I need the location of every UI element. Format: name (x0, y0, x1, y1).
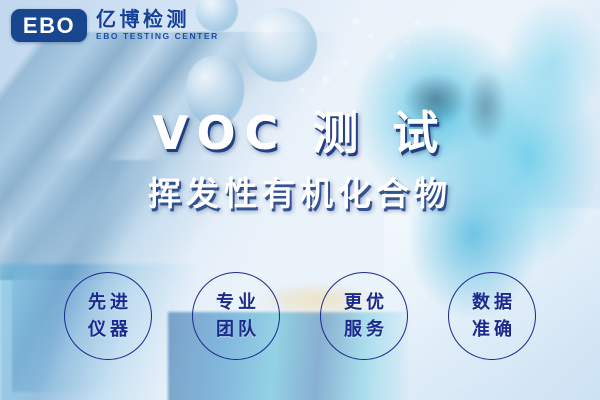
feature-badge-better-service: 更优 服务 (320, 272, 408, 360)
ebo-logo-mark: EBO (11, 9, 87, 42)
feature-badge-advanced-instruments: 先进 仪器 (64, 272, 152, 360)
feature-badge-accurate-data: 数据 准确 (448, 272, 536, 360)
voc-testing-banner: EBO 亿博检测 EBO TESTING CENTER VOC 测 试 挥发性有… (0, 0, 600, 400)
feature-badge-professional-team: 专业 团队 (192, 272, 280, 360)
badge-line-1: 数据 (468, 289, 516, 316)
badge-line-2: 仪器 (84, 316, 132, 343)
company-name-block: 亿博检测 EBO TESTING CENTER (96, 9, 219, 41)
badge-line-2: 服务 (340, 316, 388, 343)
badge-line-2: 准确 (468, 316, 516, 343)
feature-badge-row: 先进 仪器 专业 团队 更优 服务 数据 准确 (0, 272, 600, 360)
badge-line-1: 先进 (84, 289, 132, 316)
company-name-cn: 亿博检测 (96, 9, 219, 30)
badge-line-1: 专业 (212, 289, 260, 316)
ebo-logo-text: EBO (23, 15, 75, 37)
badge-line-2: 团队 (212, 316, 260, 343)
company-name-en: EBO TESTING CENTER (96, 32, 219, 41)
company-logo: EBO 亿博检测 EBO TESTING CENTER (11, 9, 219, 42)
badge-line-1: 更优 (340, 289, 388, 316)
